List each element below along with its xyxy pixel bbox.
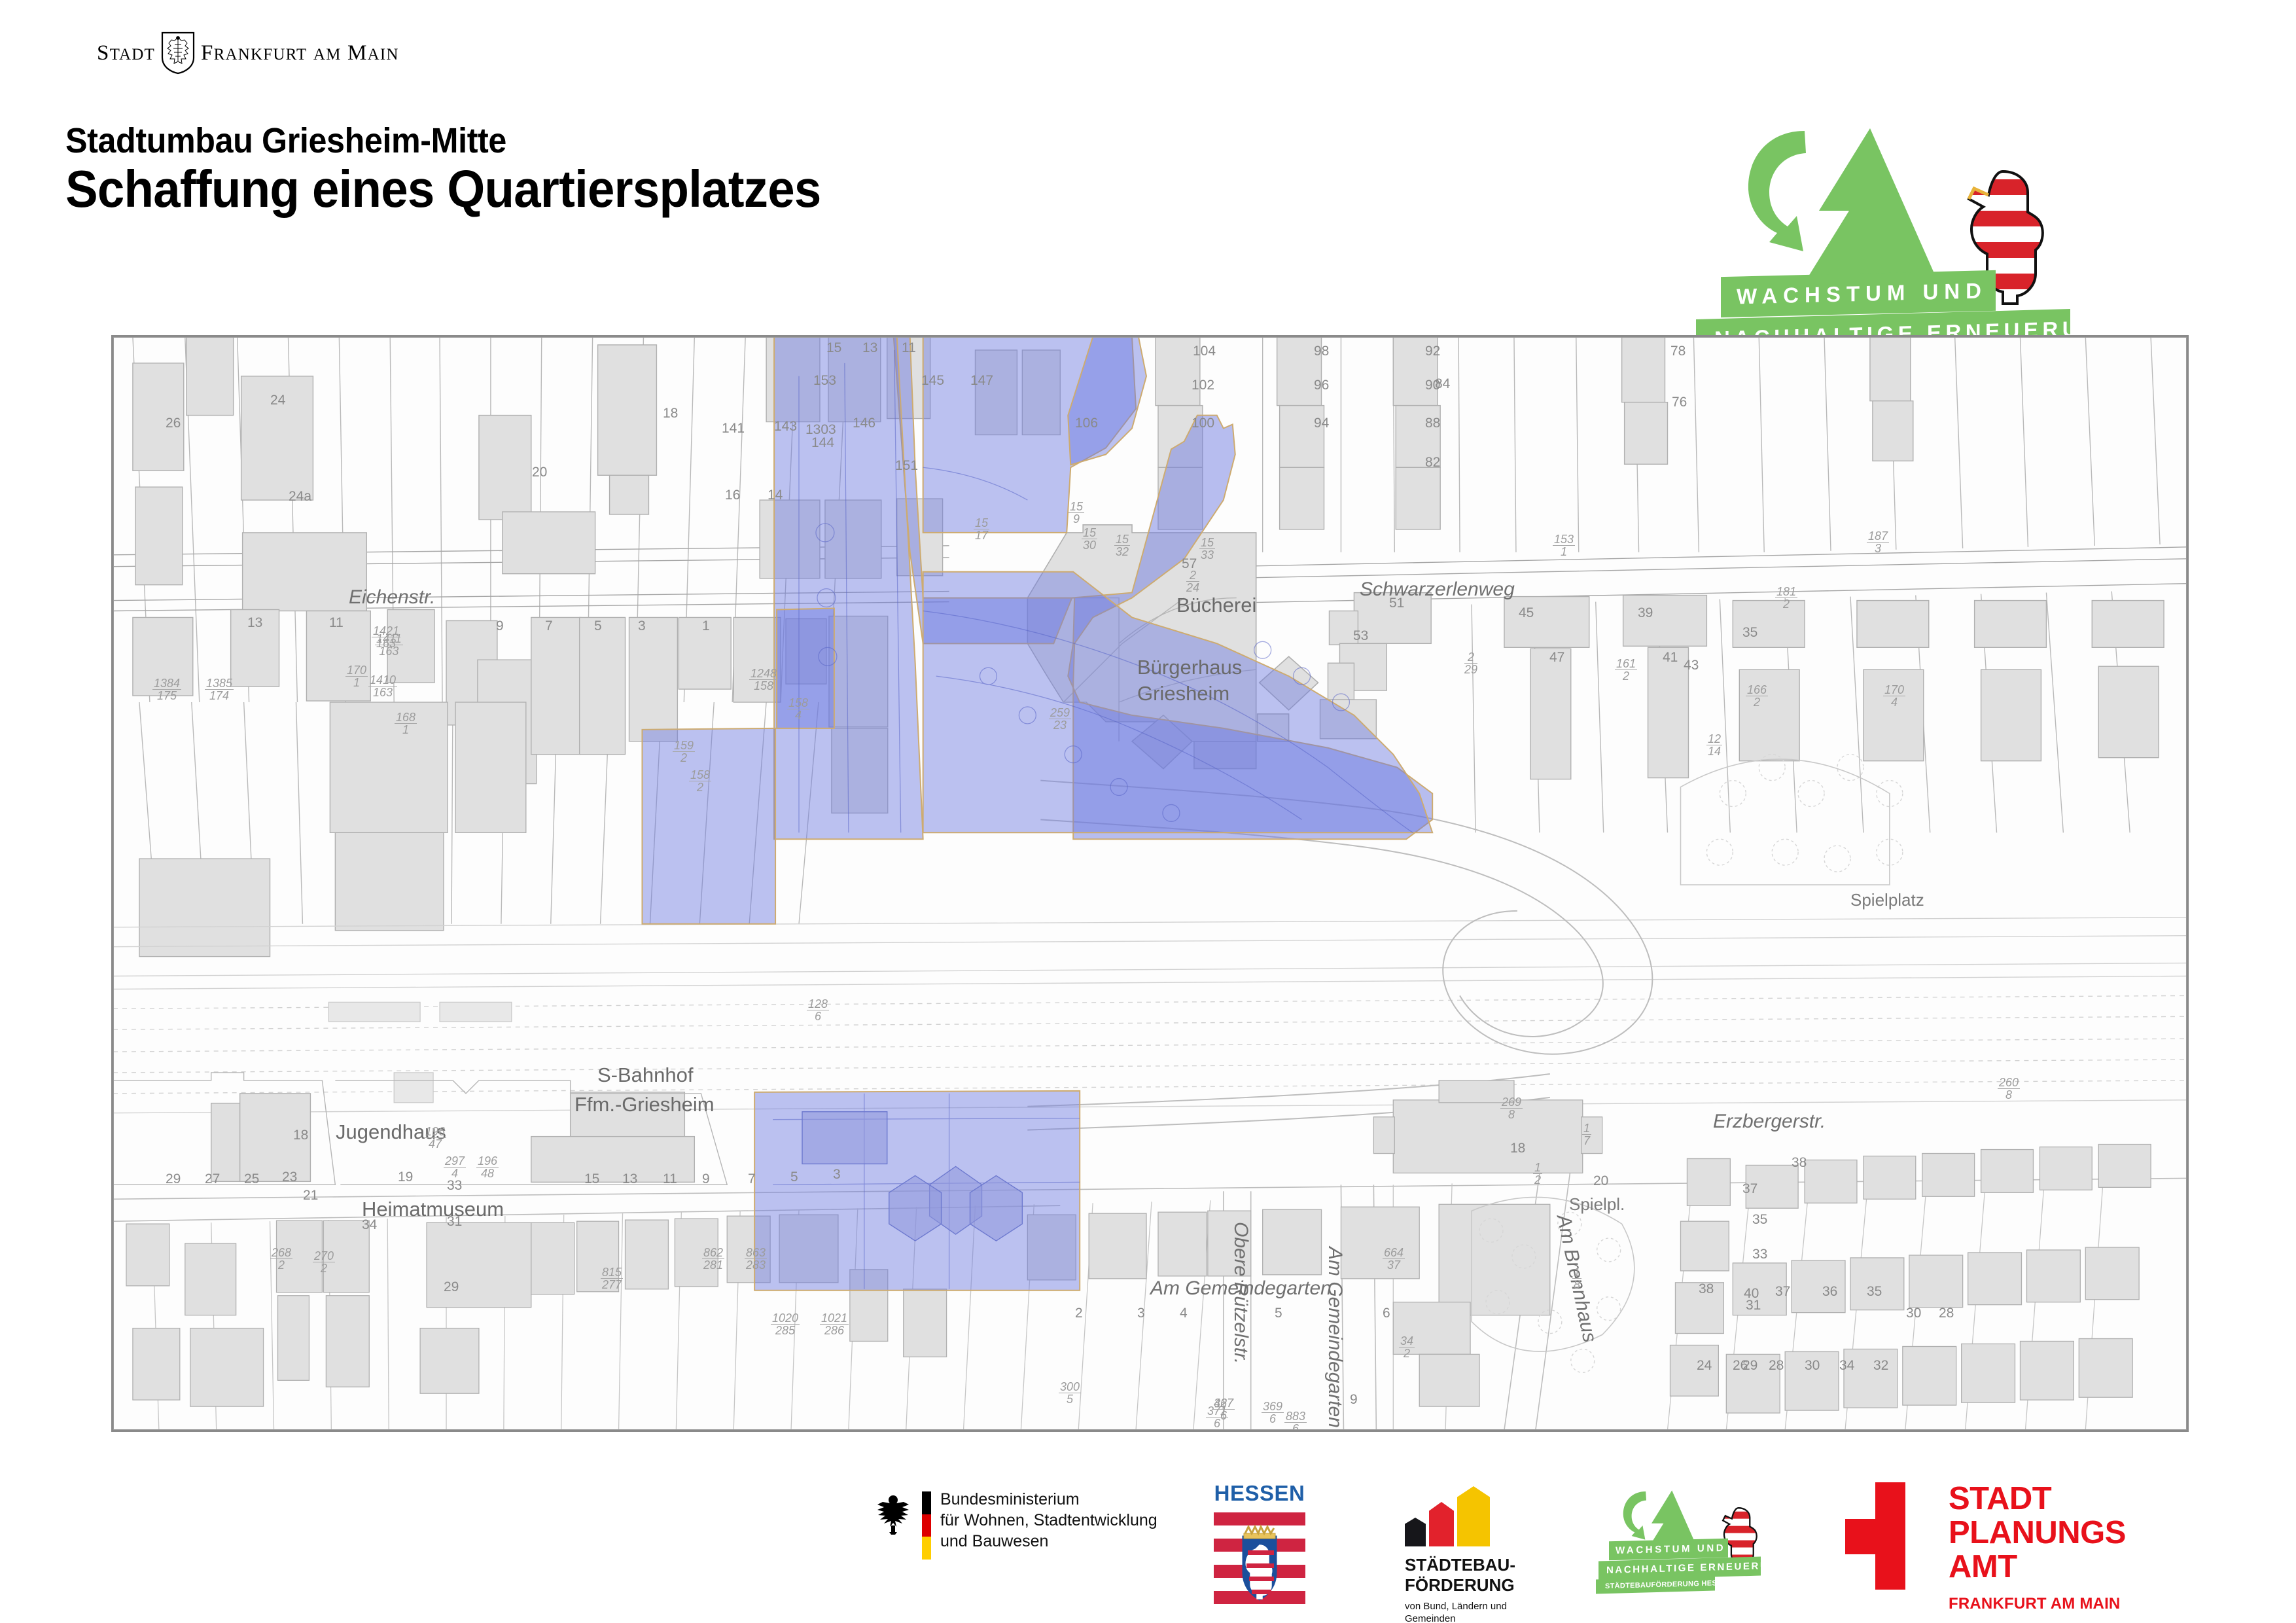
map-canvas: Eichenstr.SchwarzerlenwegErzbergerstr.Am… [113, 337, 2187, 1430]
bmwsb-line1: Bundesministerium [940, 1489, 1157, 1510]
german-flag-bar-icon [922, 1491, 931, 1560]
hessen-state-logo: HESSEN [1214, 1481, 1305, 1610]
frankfurt-eagle-crest-icon [160, 31, 196, 75]
hessen-wordmark: HESSEN [1214, 1481, 1305, 1506]
program-logo-small-line3: STÄDTEBAUFÖRDERUNG HESSEN [1596, 1576, 1715, 1594]
spa-line1: STADT [1949, 1482, 2126, 1516]
stadtplanungsamt-mark-icon [1845, 1482, 1925, 1590]
city-logo-left: STADT [97, 41, 155, 65]
city-logo: STADT FRANKFURT AM MAIN [97, 31, 399, 75]
program-logo-small-line1: WACHSTUM UND [1609, 1539, 1728, 1560]
hessen-flag-icon [1214, 1510, 1305, 1607]
cadastral-vector-layer [113, 337, 2187, 1430]
federal-eagle-icon [874, 1493, 913, 1536]
stadtplanungsamt-logo: STADT PLANUNGS AMT FRANKFURT AM MAIN [1845, 1482, 2126, 1613]
funding-logo-bar: Bundesministerium für Wohnen, Stadtentwi… [0, 1469, 2296, 1623]
stf-sub2: Gemeinden [1405, 1613, 1547, 1623]
bmwsb-line3: und Bauwesen [940, 1531, 1157, 1552]
program-logo-line1: WACHSTUM UND [1721, 270, 1996, 317]
staedtebaufoerderung-logo: STÄDTEBAU- FÖRDERUNG von Bund, Ländern u… [1390, 1486, 1547, 1623]
stadtplanungsamt-text: STADT PLANUNGS AMT FRANKFURT AM MAIN [1949, 1482, 2126, 1613]
bmwsb-line2: für Wohnen, Stadtentwicklung [940, 1510, 1157, 1531]
spa-line3: AMT [1949, 1550, 2126, 1584]
poster-page: STADT FRANKFURT AM MAIN Stadtumbau Gries… [0, 0, 2296, 1623]
spa-sub: FRANKFURT AM MAIN [1949, 1595, 2126, 1613]
page-title: Schaffung eines Quartiersplatzes [65, 159, 821, 219]
spa-line2: PLANUNGS [1949, 1516, 2126, 1550]
city-logo-right: FRANKFURT AM MAIN [201, 41, 399, 65]
stf-line1: STÄDTEBAU- [1405, 1555, 1547, 1575]
three-houses-icon [1405, 1486, 1547, 1546]
site-plan-map[interactable]: Eichenstr.SchwarzerlenwegErzbergerstr.Am… [111, 335, 2189, 1432]
bmwsb-text: Bundesministerium für Wohnen, Stadtentwi… [940, 1489, 1157, 1552]
stf-line2: FÖRDERUNG [1405, 1575, 1547, 1596]
program-logo-wachstum-small: WACHSTUM UND NACHHALTIGE ERNEUERUNG STÄD… [1606, 1489, 1803, 1600]
page-subtitle: Stadtumbau Griesheim-Mitte [65, 120, 506, 161]
bmwsb-logo: Bundesministerium für Wohnen, Stadtentwi… [874, 1489, 1157, 1560]
stf-sub1: von Bund, Ländern und [1405, 1601, 1547, 1613]
